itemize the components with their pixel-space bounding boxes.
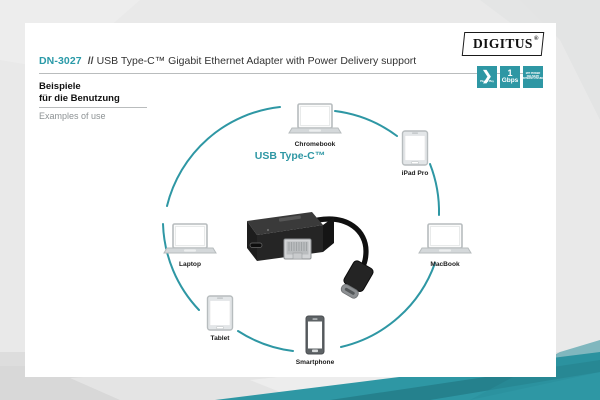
product-adapter-image: [247, 212, 375, 301]
node-label-tablet: Tablet: [211, 335, 231, 342]
content-card: DIGITUS® DN-3027//USB Type-C™ Gigabit Et…: [25, 23, 556, 377]
node-smartphone[interactable]: Smartphone: [296, 316, 335, 366]
node-label-smartphone: Smartphone: [296, 359, 335, 366]
node-label-laptop: Laptop: [179, 261, 201, 268]
node-tablet[interactable]: Tablet: [208, 296, 233, 342]
node-laptop[interactable]: Laptop: [164, 224, 216, 268]
node-ipad-pro[interactable]: iPad Pro: [402, 131, 429, 177]
node-label-chromebook: Chromebook: [295, 141, 336, 148]
node-macbook[interactable]: MacBook: [419, 224, 471, 268]
center-label: USB Type-C™: [255, 150, 325, 162]
usage-diagram: USB Type-C™: [25, 23, 556, 377]
node-chromebook[interactable]: Chromebook: [289, 104, 341, 148]
node-label-macbook: MacBook: [430, 261, 460, 268]
node-label-ipad-pro: iPad Pro: [402, 170, 429, 177]
